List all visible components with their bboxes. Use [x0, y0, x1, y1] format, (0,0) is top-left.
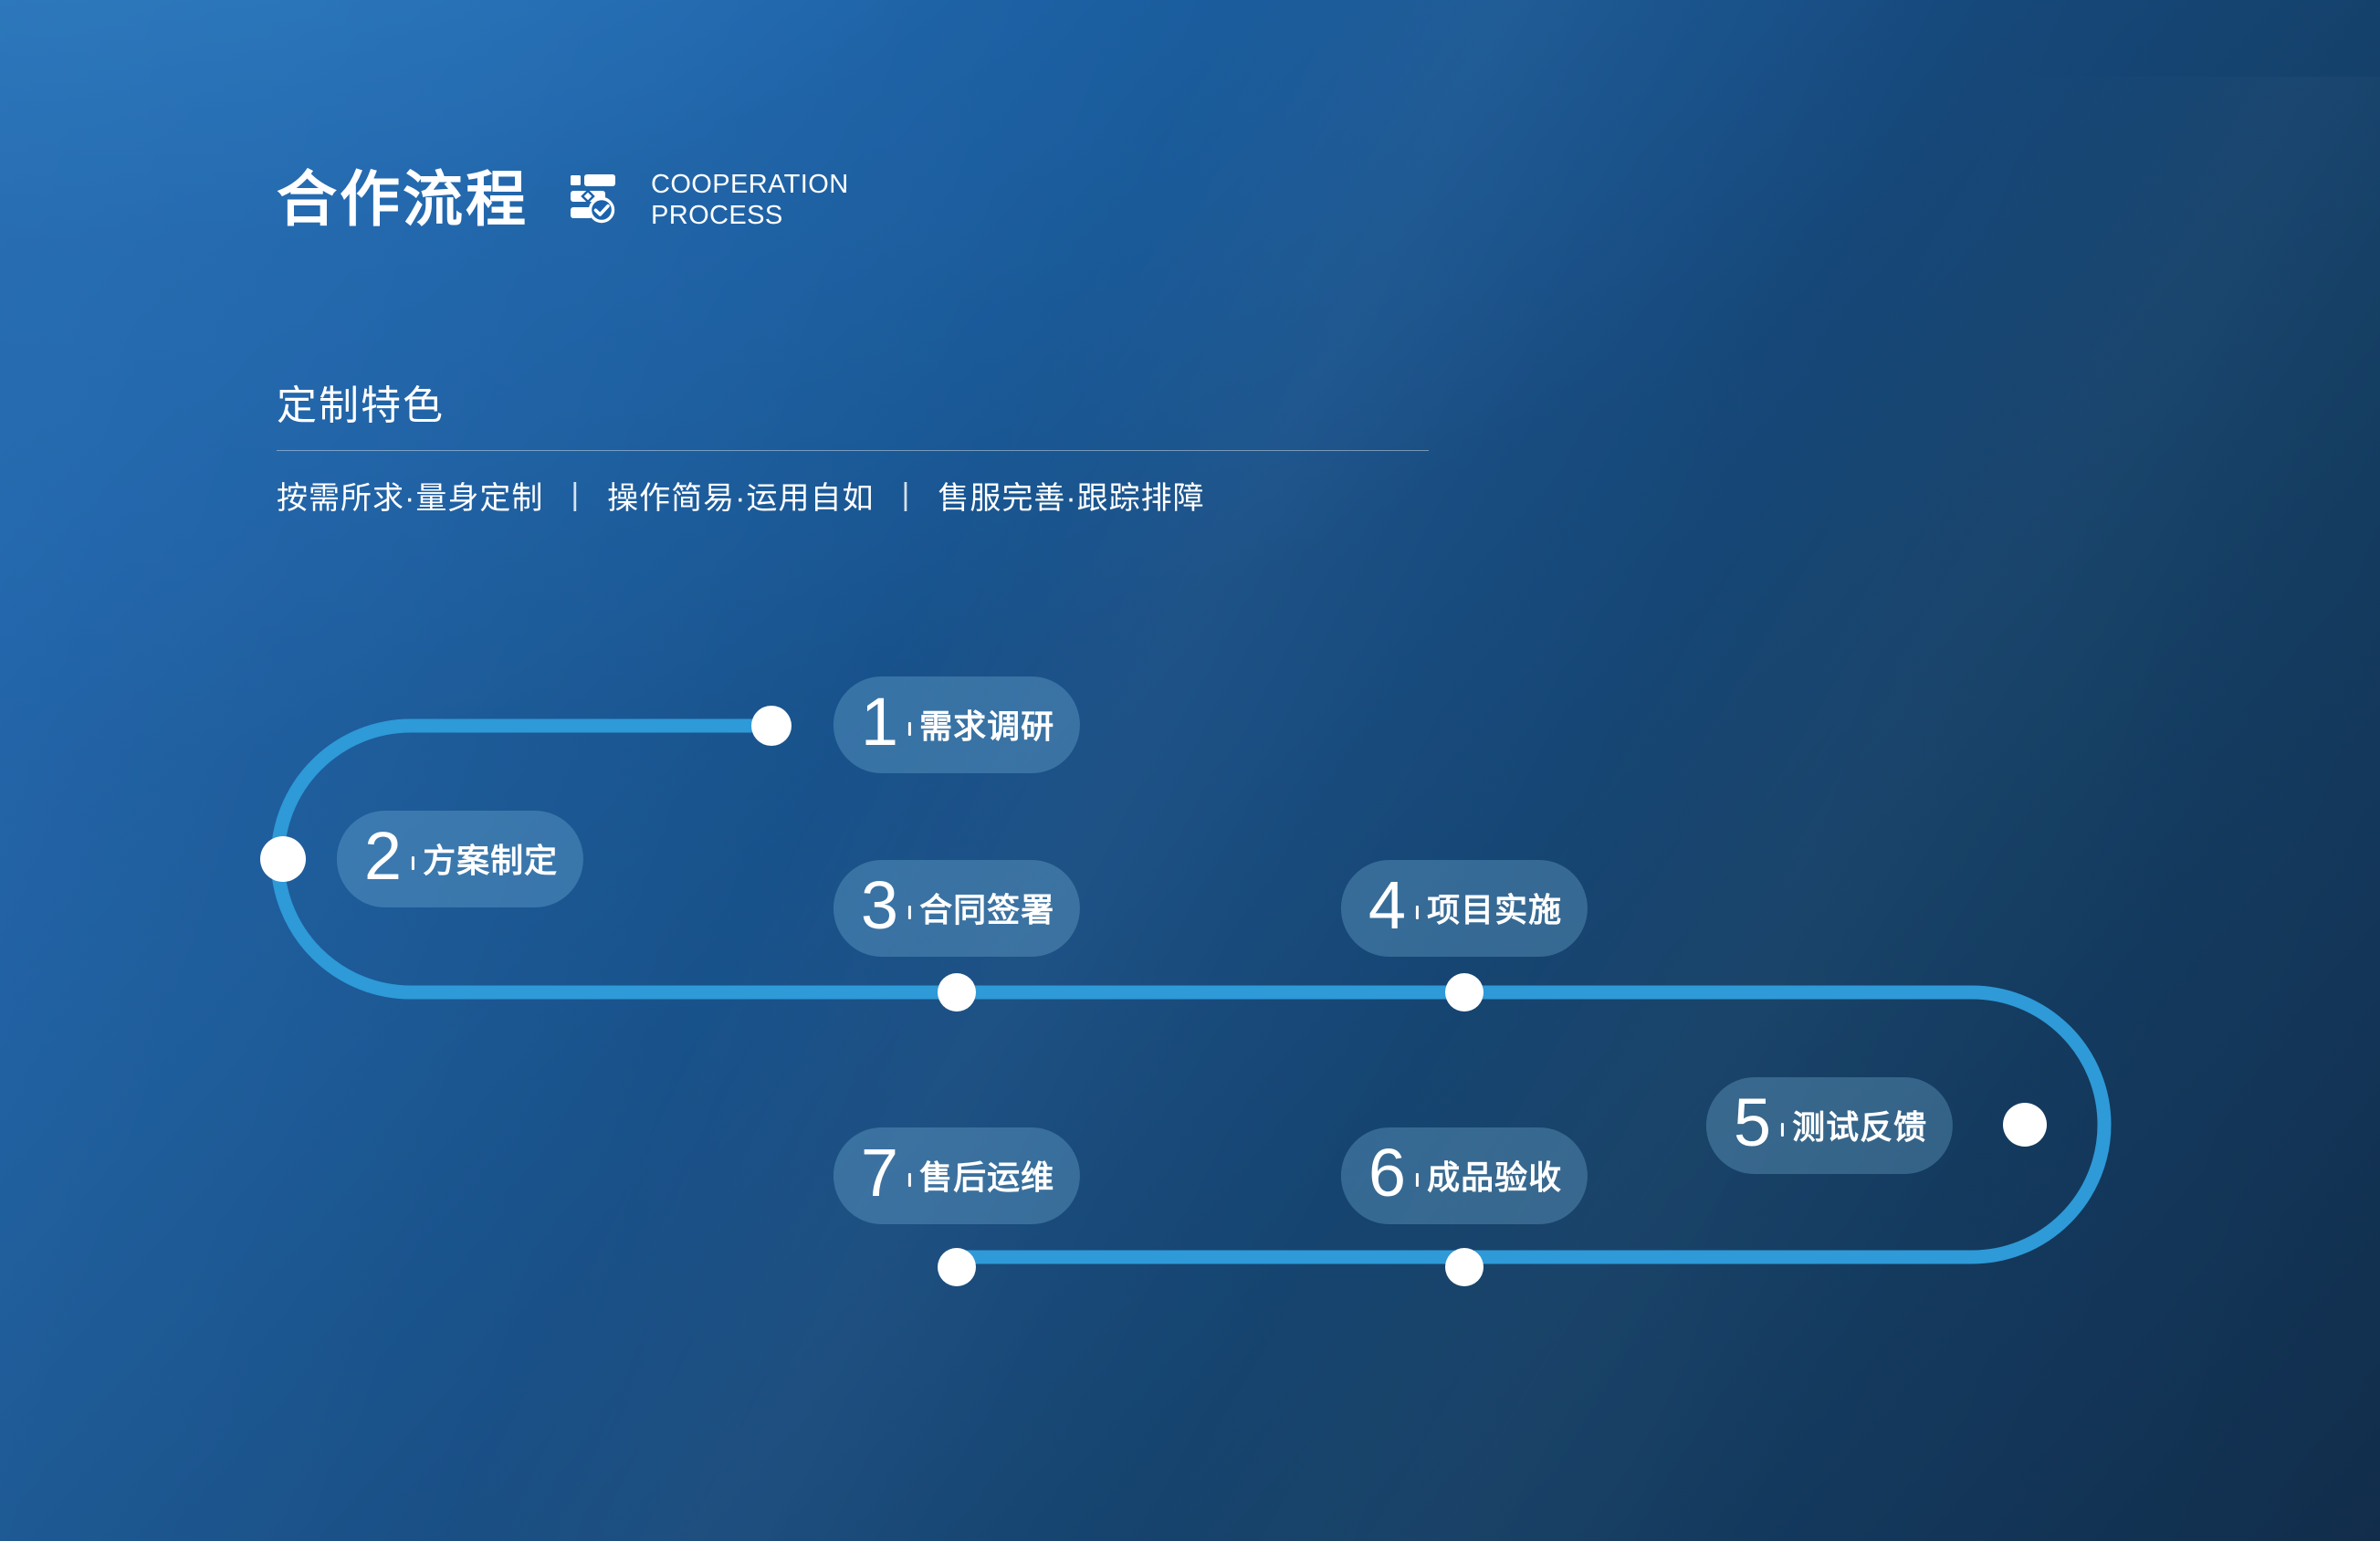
flow-step-7-tick-icon: [908, 1173, 911, 1187]
flow-step-7[interactable]: 7 售后运维: [834, 1127, 1080, 1224]
flow-step-1-number: 1: [861, 688, 898, 756]
flow-step-4-tick-icon: [1416, 906, 1419, 919]
flow-step-4[interactable]: 4 项目实施: [1341, 860, 1588, 957]
flow-step-1-tick-icon: [908, 722, 911, 736]
flow-step-6-label: 成品验收: [1427, 1161, 1562, 1194]
flow-step-3-tick-icon: [908, 906, 911, 919]
cooperation-process-flow: 1 需求调研 2 方案制定 3 合同签署 4 项目实施 5 测试反馈 6 成品验…: [0, 0, 2380, 1541]
flow-step-7-number: 7: [861, 1139, 898, 1207]
flow-node-6: [1445, 1248, 1484, 1286]
flow-step-5-label: 测试反馈: [1792, 1111, 1927, 1144]
flow-track-line: [0, 0, 2380, 1541]
flow-step-6-number: 6: [1368, 1139, 1406, 1207]
flow-node-5: [2003, 1103, 2047, 1147]
flow-step-5-tick-icon: [1781, 1123, 1784, 1137]
flow-step-7-label: 售后运维: [919, 1161, 1054, 1194]
flow-node-2: [260, 836, 306, 882]
flow-node-3: [938, 973, 976, 1012]
flow-step-2[interactable]: 2 方案制定: [337, 811, 583, 907]
flow-step-1[interactable]: 1 需求调研: [834, 676, 1080, 773]
flow-step-2-number: 2: [364, 823, 402, 890]
flow-step-5-number: 5: [1734, 1089, 1771, 1157]
flow-node-7: [938, 1248, 976, 1286]
flow-step-6[interactable]: 6 成品验收: [1341, 1127, 1588, 1224]
flow-step-3-number: 3: [861, 872, 898, 939]
flow-step-3[interactable]: 3 合同签署: [834, 860, 1080, 957]
flow-step-2-label: 方案制定: [423, 844, 558, 877]
flow-step-5[interactable]: 5 测试反馈: [1706, 1077, 1953, 1174]
flow-step-1-label: 需求调研: [919, 710, 1054, 743]
flow-step-2-tick-icon: [412, 856, 414, 870]
flow-step-4-number: 4: [1368, 872, 1406, 939]
flow-step-6-tick-icon: [1416, 1173, 1419, 1187]
flow-step-3-label: 合同签署: [919, 894, 1054, 927]
flow-step-4-label: 项目实施: [1427, 894, 1562, 927]
flow-node-1: [751, 706, 792, 746]
flow-node-4: [1445, 973, 1484, 1012]
